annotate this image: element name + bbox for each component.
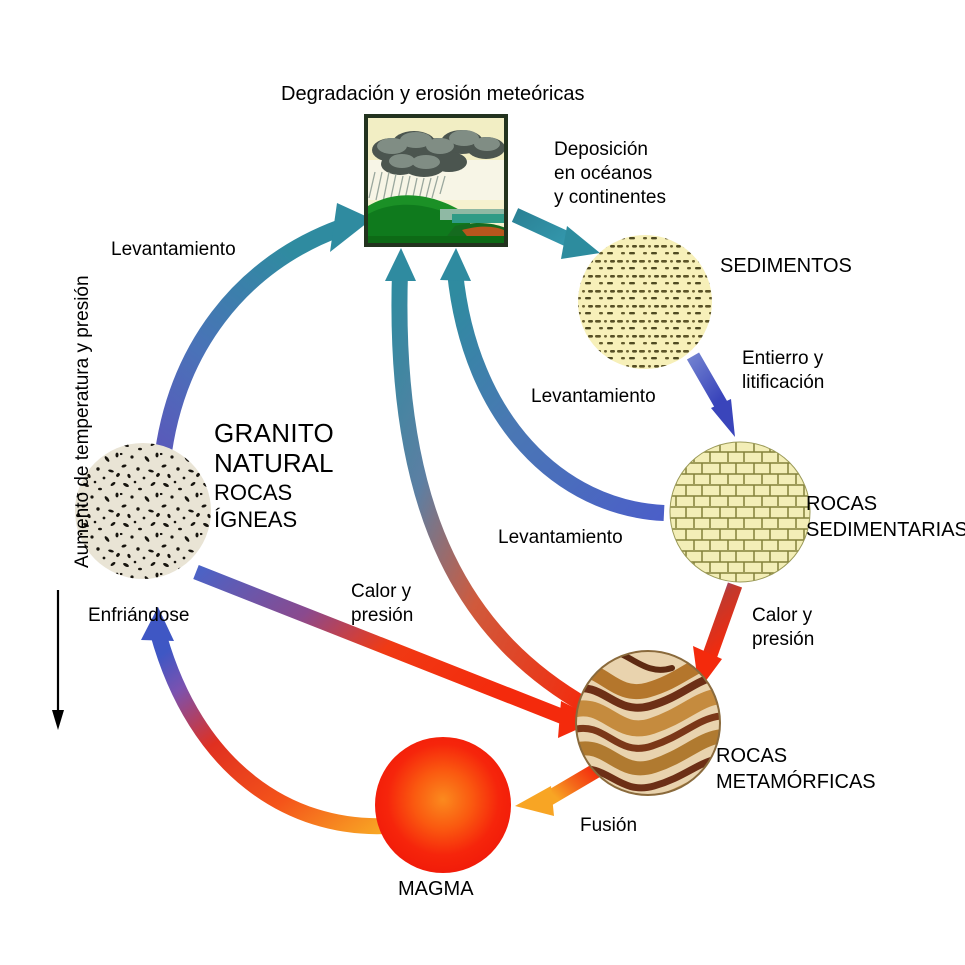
label-cooling: Enfriándose — [88, 605, 189, 627]
label-melting: Fusión — [580, 815, 637, 837]
label-deposition-line2: en océanos — [554, 163, 652, 185]
label-magma: MAGMA — [398, 878, 474, 902]
label-igneous-line2: NATURAL — [214, 448, 333, 479]
label-igneous-line4: ÍGNEAS — [214, 507, 297, 533]
node-magma — [375, 737, 511, 873]
axis-arrow — [52, 590, 64, 730]
arrow-deposition — [515, 215, 600, 259]
label-uplift-sedimentary: Levantamiento — [531, 386, 656, 408]
label-deposition-line1: Deposición — [554, 139, 648, 161]
label-burial-line2: litificación — [742, 372, 824, 394]
label-uplift-igneous: Levantamiento — [111, 239, 236, 261]
label-igneous-line3: ROCAS — [214, 480, 292, 506]
node-igneous-rocks — [75, 443, 211, 579]
label-igneous-line1: GRANITO — [214, 418, 334, 449]
label-deposition-line3: y continentes — [554, 187, 666, 209]
label-uplift-metamorphic: Levantamiento — [498, 527, 623, 549]
node-weathering-image — [366, 116, 506, 245]
arrow-melting — [515, 770, 597, 816]
label-heat-right-line2: presión — [752, 629, 814, 651]
axis-label-temperature-pressure: Aumento de temperatura y presión — [72, 275, 94, 568]
label-weathering-title: Degradación y erosión meteóricas — [281, 83, 585, 107]
rock-cycle-canvas — [0, 0, 965, 965]
arrow-burial — [693, 356, 735, 437]
rock-cycle-diagram: Degradación y erosión meteóricas Deposic… — [0, 0, 965, 965]
label-metamorphic-line2: METAMÓRFICAS — [716, 771, 876, 795]
label-sedimentary-line1: ROCAS — [806, 493, 877, 517]
label-burial-line1: Entierro y — [742, 348, 823, 370]
node-sedimentary-rocks — [670, 442, 810, 582]
label-heat-left-line2: presión — [351, 605, 413, 627]
label-heat-right-line1: Calor y — [752, 605, 812, 627]
label-sedimentary-line2: SEDIMENTARIAS — [806, 519, 965, 543]
label-metamorphic-line1: ROCAS — [716, 745, 787, 769]
label-sediments: SEDIMENTOS — [720, 255, 852, 279]
label-heat-left-line1: Calor y — [351, 581, 411, 603]
node-sediments — [578, 235, 712, 369]
